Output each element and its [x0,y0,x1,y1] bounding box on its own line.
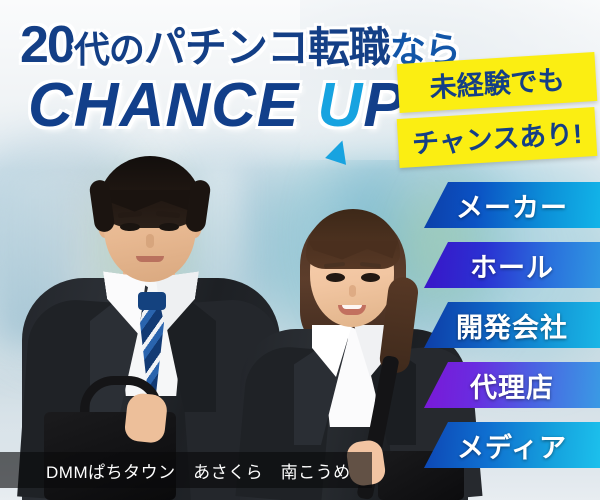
menu-item-maker[interactable]: メーカー [424,182,600,228]
man-eye-right [159,223,179,231]
menu-item-label: 開発会社 [456,306,568,345]
logo-chance: CHANCE [28,71,299,140]
woman-nose [349,285,356,297]
menu-item-developer[interactable]: 開発会社 [424,302,600,348]
headline-dai-no: 代の [74,29,144,70]
man-hand [124,392,169,444]
man-eye-left [120,223,140,231]
man-mouth [136,256,164,262]
credit-text: DMMぱちタウン あさくら 南こうめ [46,458,351,483]
credit-bar: DMMぱちタウン あさくら 南こうめ [0,452,372,488]
woman-eye-right [361,273,380,282]
menu-item-media[interactable]: メディア [424,422,600,468]
headline-number: 20 [20,16,74,74]
menu-item-label: ホール [470,246,554,285]
category-menu: メーカー ホール 開発会社 代理店 メディア [424,182,600,482]
man-nose [146,234,154,248]
menu-item-label: メーカー [456,186,568,225]
menu-item-hall[interactable]: ホール [424,242,600,288]
headline: 20代のパチンコ転職なら [20,14,460,75]
menu-item-label: 代理店 [470,366,554,405]
woman-eye-left [326,273,345,282]
promo-badge-line1: 未経験でも [397,52,598,113]
brand-logo: CHANCE UP [28,70,406,141]
menu-item-agency[interactable]: 代理店 [424,362,600,408]
man-tie-knot [138,292,166,310]
headline-keyword: パチンコ転職 [144,24,390,71]
promo-badge: 未経験でも チャンスあり! [398,58,596,162]
woman-teeth [342,305,362,309]
menu-item-label: メディア [457,426,567,465]
logo-up-u: U [317,71,363,140]
woman-hair-top [306,209,400,269]
ad-banner[interactable]: 20代のパチンコ転職なら CHANCE UP 未経験でも チャンスあり! メーカ… [0,0,600,500]
promo-badge-line2: チャンスあり! [397,107,598,168]
